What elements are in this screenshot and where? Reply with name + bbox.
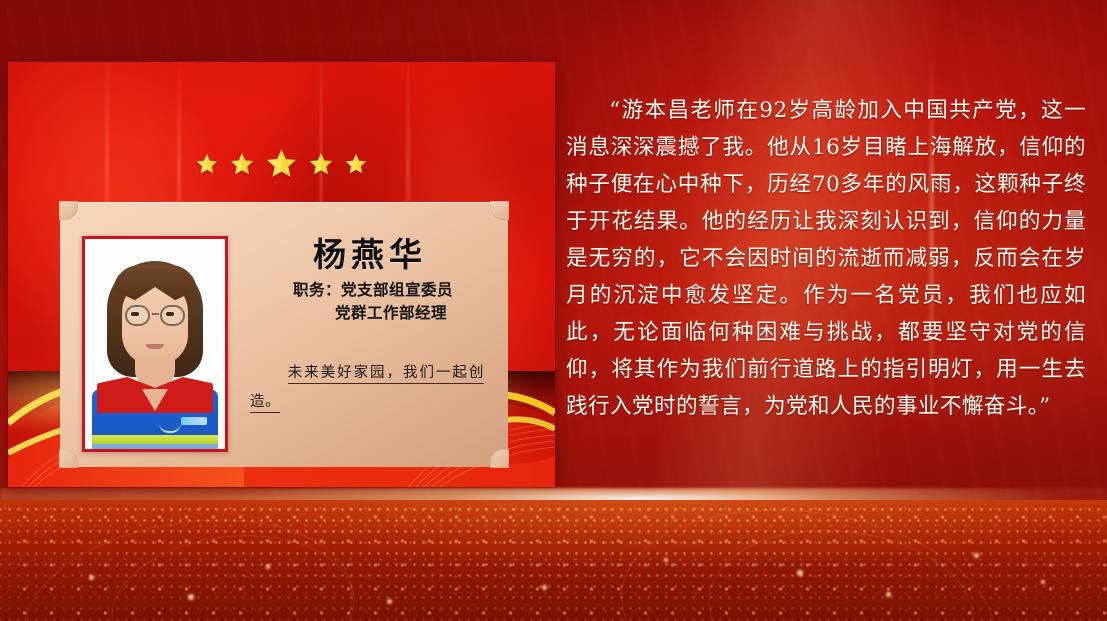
ground-glow-dot (1041, 580, 1045, 584)
ground-glow-dot (89, 575, 94, 580)
particle-dots-layer-2 (0, 500, 1107, 621)
star-icon (345, 153, 367, 175)
testimonial-quote: “游本昌老师在92岁高龄加入中国共产党，这一消息深深震撼了我。他从16岁目睹上海… (566, 92, 1086, 425)
member-role-line-1: 职务：党支部组宣委员 (256, 278, 490, 301)
poster-stage: 杨燕华 职务：党支部组宣委员 党群工作部经理 未来美好家园，我们一起创造。 (0, 0, 1107, 621)
member-name: 杨燕华 (250, 228, 490, 276)
ground-glow-dot (886, 592, 891, 597)
photo-eye-left (131, 312, 139, 316)
member-motto: 未来美好家园，我们一起创造。 (250, 359, 490, 418)
member-profile-card: 杨燕华 职务：党支部组宣委员 党群工作部经理 未来美好家园，我们一起创造。 (8, 62, 555, 487)
star-icon (309, 152, 333, 176)
star-icon (266, 148, 297, 179)
star-icon (196, 153, 218, 175)
member-role-line-2: 党群工作部经理 (256, 301, 490, 324)
photo-eye-right (166, 312, 174, 316)
photo-reflective-stripe (92, 444, 218, 449)
particle-ground (0, 500, 1107, 621)
member-motto-text: 未来美好家园，我们一起创造。 (250, 365, 484, 414)
photo-hi-vis-stripe (92, 435, 218, 444)
photo-mouth (146, 344, 164, 349)
member-role: 职务：党支部组宣委员 党群工作部经理 (250, 278, 490, 325)
star-rating-row (8, 148, 555, 179)
photo-glasses-bridge (152, 313, 159, 315)
info-plaque: 杨燕华 职务：党支部组宣委员 党群工作部经理 未来美好家园，我们一起创造。 (60, 202, 508, 467)
portrait-photo-wrapper (82, 236, 234, 467)
portrait-photo (82, 236, 228, 452)
photo-uniform-logo (181, 417, 207, 425)
member-meta: 杨燕华 职务：党支部组宣委员 党群工作部经理 未来美好家园，我们一起创造。 (234, 202, 508, 467)
star-icon (230, 152, 254, 176)
